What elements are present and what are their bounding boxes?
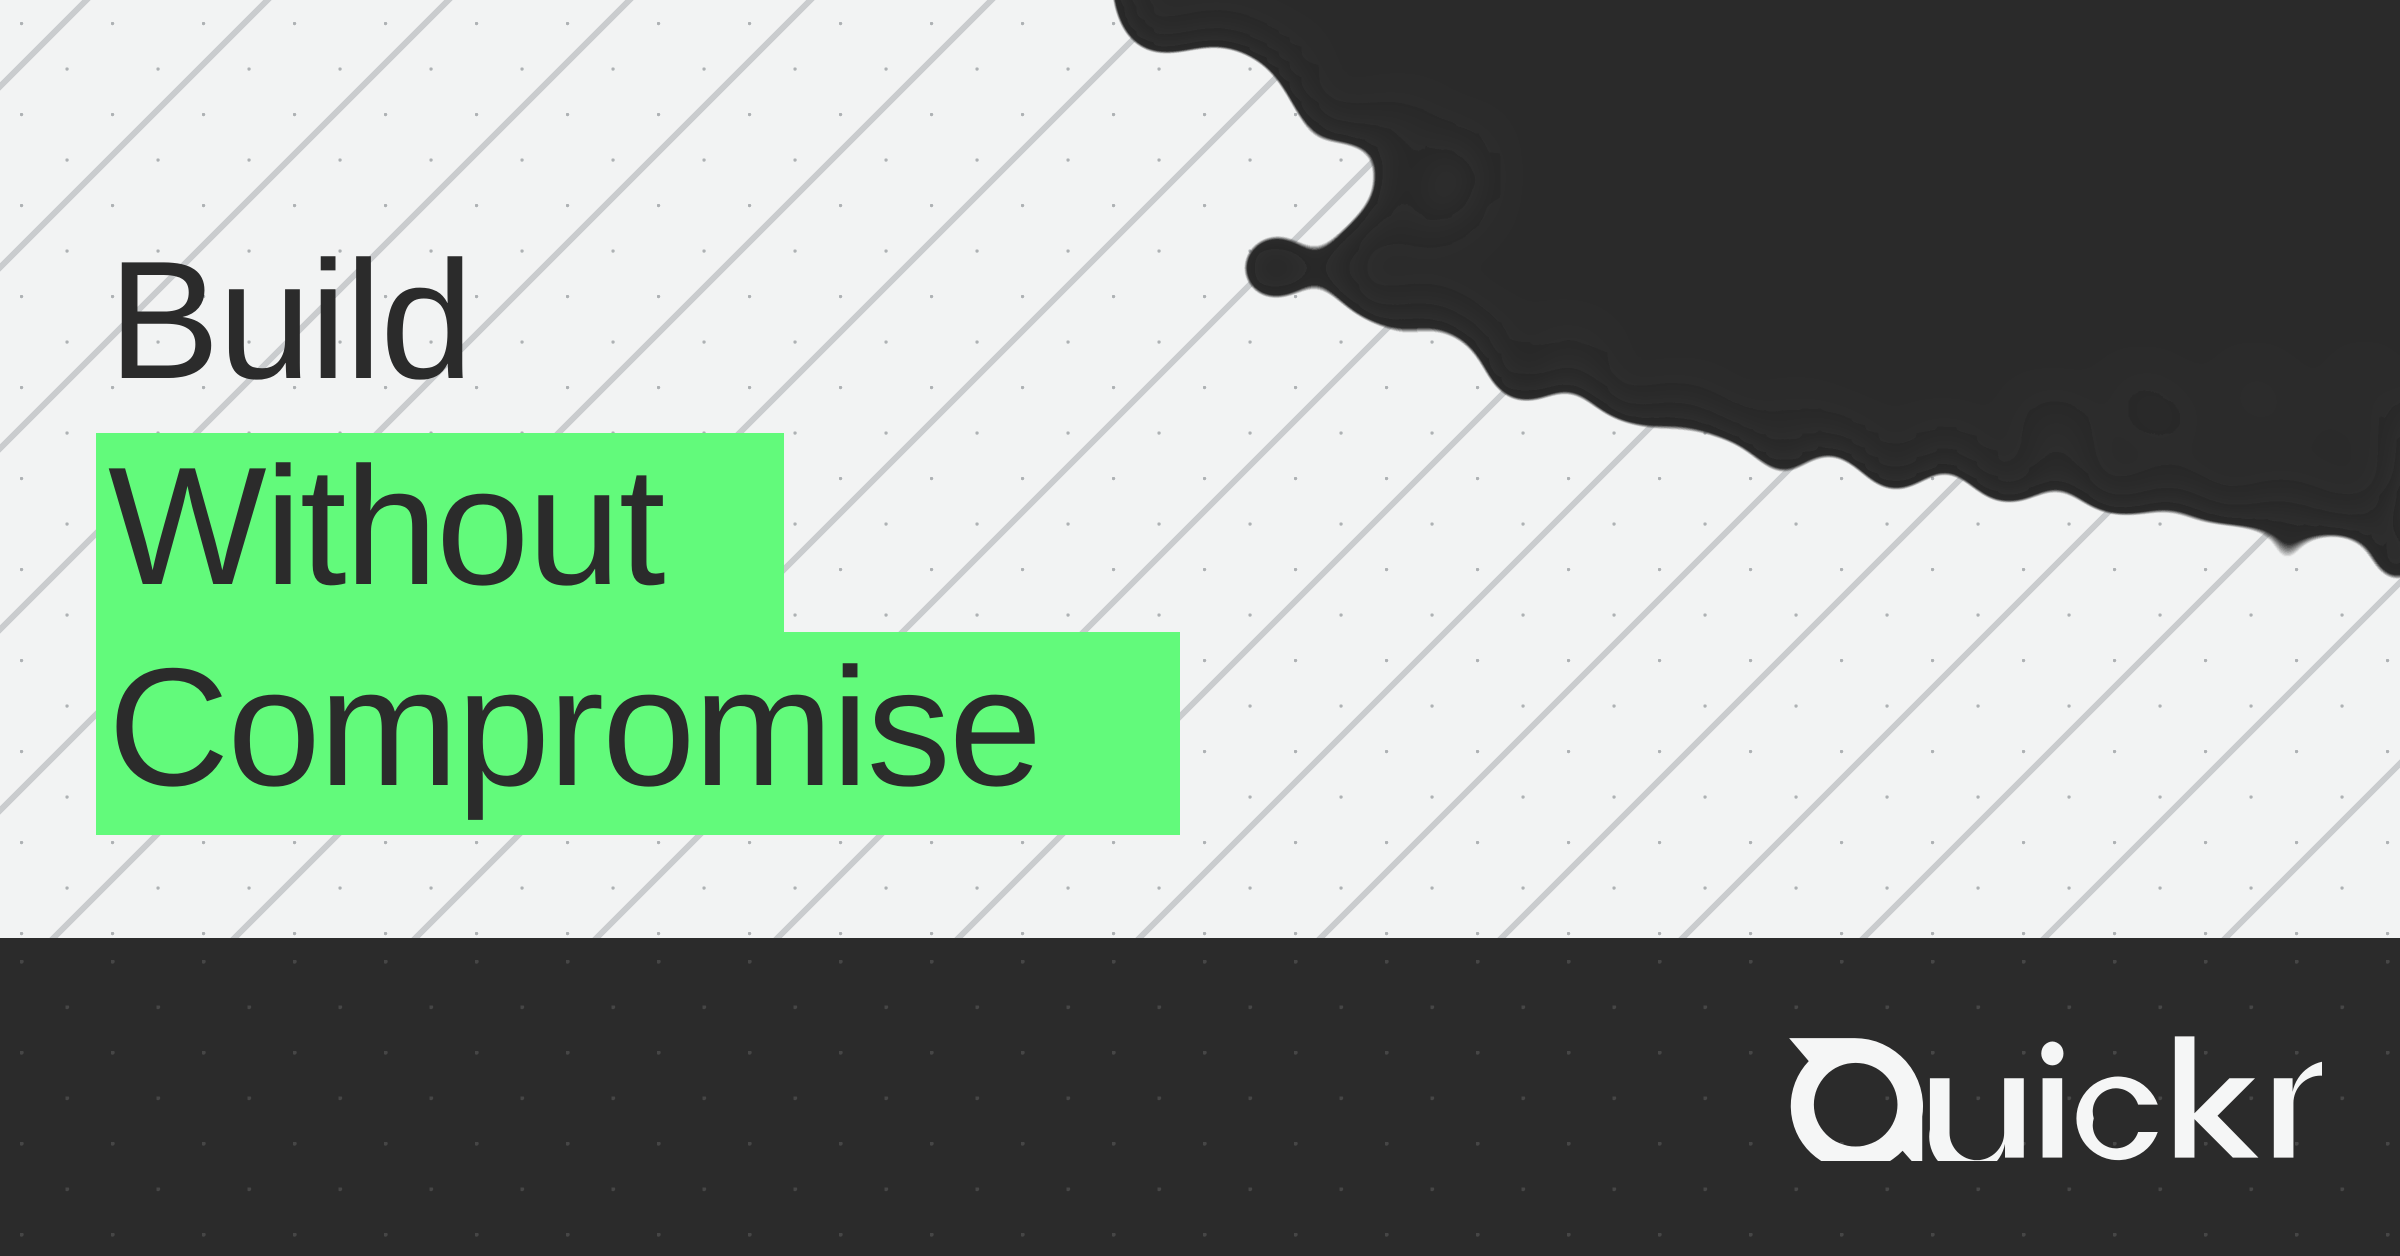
quicknode-wordmark-icon — [1784, 1033, 2322, 1161]
headline-line-2: Without — [108, 442, 664, 610]
hero-dark-footer — [0, 938, 2400, 1256]
headline-line-1: Build — [108, 236, 472, 404]
quicknode-logo[interactable] — [1784, 1033, 2322, 1161]
headline-block: Build Without Compromise — [0, 0, 2400, 938]
quicknode-hero-banner: Build Without Compromise — [0, 0, 2400, 1256]
headline-line-3: Compromise — [108, 643, 1040, 811]
hero-light-panel: Build Without Compromise — [0, 0, 2400, 938]
